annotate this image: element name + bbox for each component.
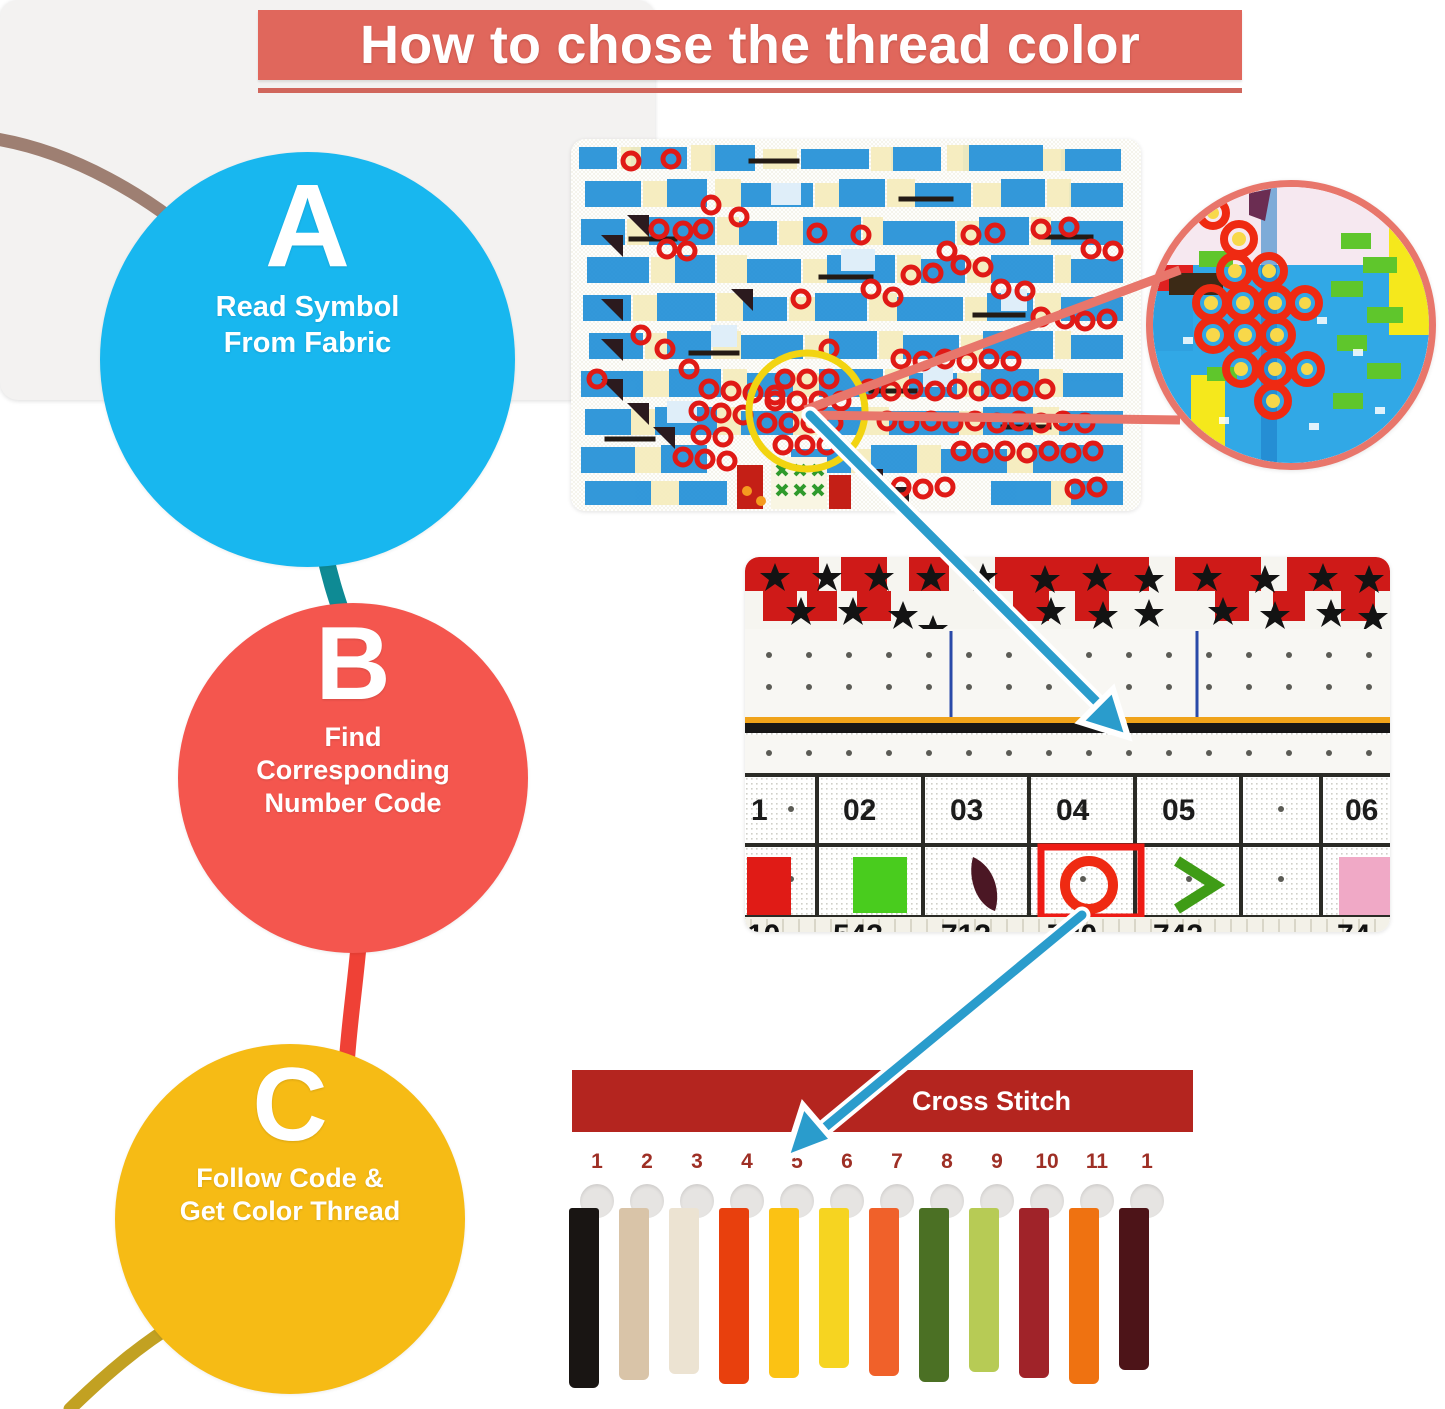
blue-flow-arrows — [0, 0, 1445, 1409]
arrow-chart-to-threadcard — [786, 915, 1082, 1158]
arrow-fabric-to-chart — [810, 415, 1128, 737]
infographic-page: How to chose the thread color A Read Sym… — [0, 0, 1445, 1409]
